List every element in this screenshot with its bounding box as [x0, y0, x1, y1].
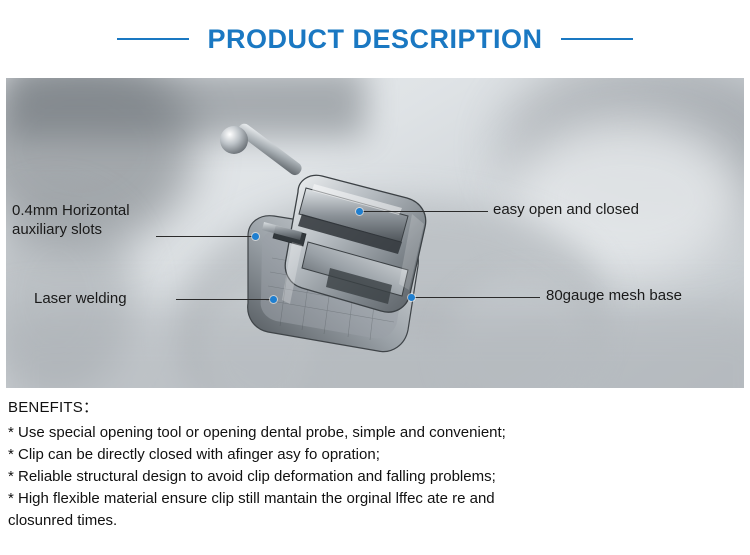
page-title: PRODUCT DESCRIPTION: [207, 24, 542, 55]
callout-laser-welding: Laser welding: [34, 290, 194, 309]
callout-horizontal-slots: 0.4mm Horizontal auxiliary slots: [12, 202, 202, 240]
callout-easy-open: easy open and closed: [493, 201, 723, 220]
hotspot-dot-mesh-base: [408, 294, 415, 301]
page-header: PRODUCT DESCRIPTION: [0, 0, 750, 78]
header-rule-left: [117, 38, 189, 40]
opening-tool-rod: [220, 121, 304, 180]
benefits-title: BENEFITS：: [8, 396, 744, 417]
leader-line-easy-open: [362, 211, 488, 212]
benefit-item: * Use special opening tool or opening de…: [8, 422, 744, 444]
header-rule-right: [561, 38, 633, 40]
bracket-illustration: [202, 118, 452, 358]
hotspot-dot-easy-open: [356, 208, 363, 215]
product-description-page: PRODUCT DESCRIPTION: [0, 0, 750, 555]
benefit-item: * Reliable structural design to avoid cl…: [8, 466, 744, 488]
hotspot-dot-horizontal-slots: [252, 233, 259, 240]
benefit-item: * Clip can be directly closed with afing…: [8, 444, 744, 466]
product-photo: 0.4mm Horizontal auxiliary slots Laser w…: [6, 78, 744, 388]
benefits-section: BENEFITS： * Use special opening tool or …: [8, 396, 744, 532]
hotspot-dot-laser-welding: [270, 296, 277, 303]
leader-line-laser-welding: [176, 299, 272, 300]
callout-mesh-base: 80gauge mesh base: [546, 287, 744, 306]
leader-line-horizontal-slots: [156, 236, 252, 237]
leader-line-mesh-base: [414, 297, 540, 298]
benefit-item: * High flexible material ensure clip sti…: [8, 488, 744, 532]
